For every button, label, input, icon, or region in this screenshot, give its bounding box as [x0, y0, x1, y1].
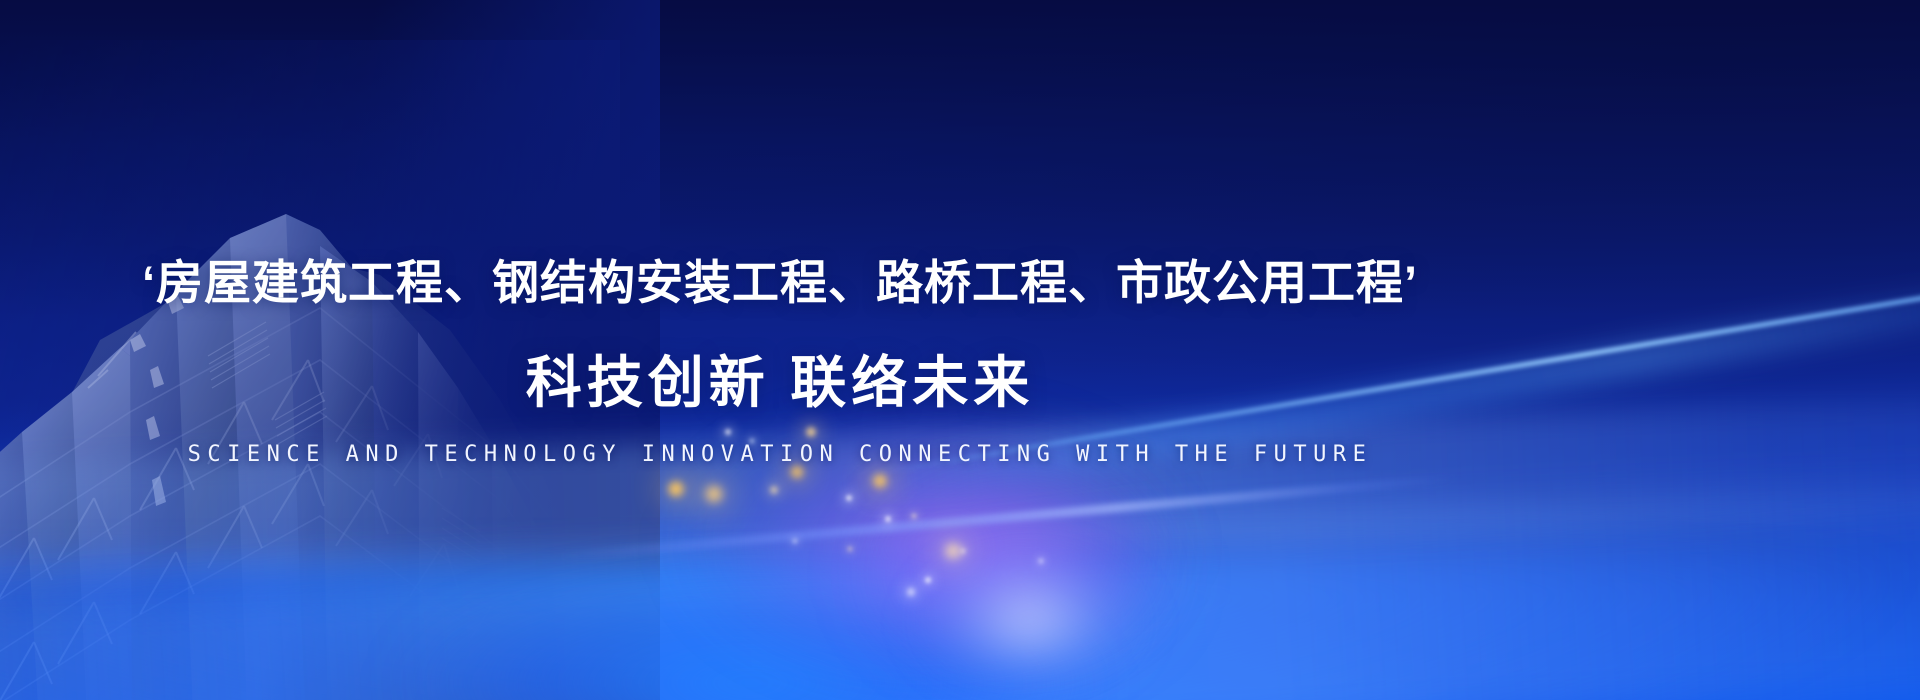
hero-banner: ‘房屋建筑工程、钢结构安装工程、路桥工程、市政公用工程’ 科技创新 联络未来 S…	[0, 0, 1920, 700]
banner-slogan-cn: 科技创新 联络未来	[526, 349, 1035, 416]
banner-text-block: ‘房屋建筑工程、钢结构安装工程、路桥工程、市政公用工程’ 科技创新 联络未来 S…	[0, 0, 1560, 700]
banner-headline: ‘房屋建筑工程、钢结构安装工程、路桥工程、市政公用工程’	[142, 255, 1418, 310]
banner-slogan-en: SCIENCE AND TECHNOLOGY INNOVATION CONNEC…	[188, 442, 1373, 467]
